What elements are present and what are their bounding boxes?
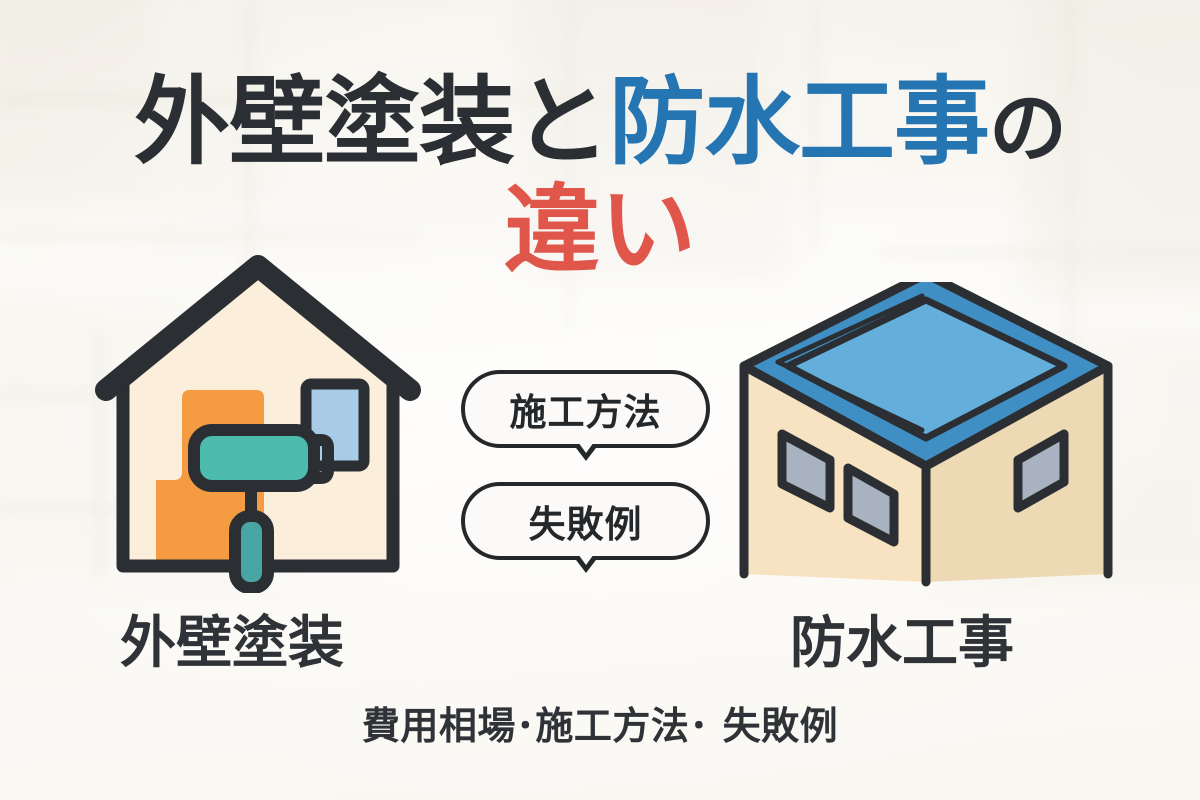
title-segment-waterproofing: 防水工事 <box>609 66 989 178</box>
bubble-label: 施工方法 <box>510 382 662 436</box>
label-exterior-painting: 外壁塗装 <box>120 598 344 679</box>
subtitle: 費用相場･施工方法･ 失敗例 <box>0 695 1200 750</box>
house-paint-roller-icon <box>78 248 438 593</box>
label-waterproofing: 防水工事 <box>790 598 1014 679</box>
title-segment-no: の <box>989 84 1066 174</box>
bubble-failure-examples[interactable]: 失敗例 <box>461 482 710 560</box>
title-segment-exterior-painting: 外壁塗装と <box>134 66 609 178</box>
infographic-canvas: 外壁塗装と防水工事の 違い <box>0 0 1200 800</box>
title-line-1: 外壁塗装と防水工事の <box>0 74 1200 172</box>
bubble-label: 失敗例 <box>529 494 643 548</box>
flat-roof-waterproofing-icon <box>726 282 1126 594</box>
bubble-notch-icon <box>573 444 599 461</box>
title-segment-difference: 違い <box>504 174 696 286</box>
bubble-notch-icon <box>573 556 599 573</box>
bubble-construction-method[interactable]: 施工方法 <box>461 370 710 448</box>
